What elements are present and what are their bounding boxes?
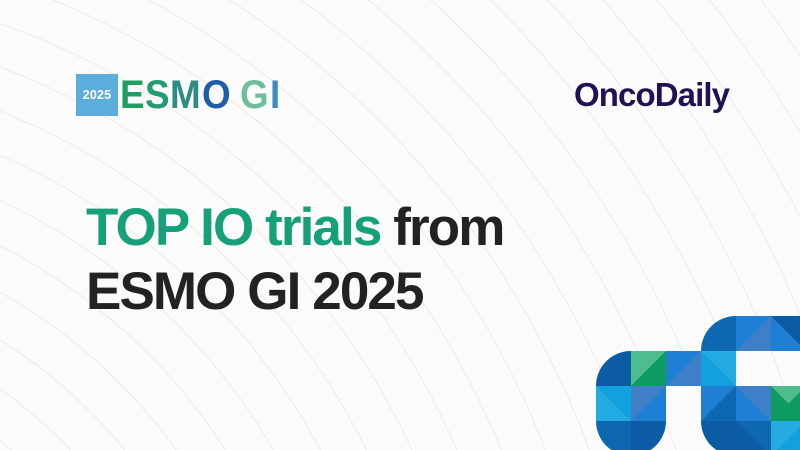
mosaic-tile-triangle — [701, 386, 736, 421]
esmo-letter-g-4: G — [240, 75, 267, 115]
esmo-letter-i-5: I — [270, 75, 279, 115]
mosaic-tile — [736, 421, 771, 450]
mosaic-tile — [771, 421, 800, 450]
mosaic-tile-quarter — [701, 316, 736, 351]
mosaic-tile — [701, 386, 736, 421]
mosaic-tile — [631, 386, 666, 421]
mosaic-tile-quarter — [596, 351, 631, 386]
headline-line-2: ESMO GI 2025 — [86, 260, 646, 324]
mosaic-tile-triangle — [771, 316, 800, 351]
esmo-letter-e-0: E — [120, 75, 143, 115]
mosaic-tile-triangle — [736, 421, 771, 450]
mosaic-tile-triangle — [701, 351, 736, 386]
mosaic-tile-triangle — [666, 351, 701, 386]
esmo-year-label: 2025 — [83, 88, 112, 102]
mosaic-tile — [631, 351, 666, 386]
esmo-letter-s-1: S — [145, 75, 168, 115]
esmo-letter-o-3: O — [202, 75, 229, 115]
mosaic-tile — [771, 386, 800, 421]
mosaic-tile-triangle — [771, 421, 800, 450]
mosaic-tile — [701, 351, 736, 386]
mosaic-tile-wedge — [771, 386, 800, 404]
mosaic-tile-quarter — [701, 421, 736, 450]
esmo-year-badge: 2025 — [76, 74, 118, 116]
mosaic-tile-triangle — [736, 386, 771, 421]
mosaic-tile — [736, 386, 771, 421]
mosaic-tile-triangle — [631, 351, 666, 386]
mosaic-tile — [666, 351, 701, 386]
mosaic-tile-quarter — [596, 421, 631, 450]
esmo-gi-logo: 2025 ESMOGI — [76, 74, 279, 116]
mosaic-tile-triangle — [631, 386, 666, 421]
headline-block: TOP IO trials from ESMO GI 2025 — [86, 196, 646, 324]
mosaic-tile-triangle — [736, 316, 771, 351]
headline-line-1: TOP IO trials from — [86, 196, 646, 260]
mosaic-tile — [771, 316, 800, 351]
esmo-wordmark: ESMOGI — [120, 74, 279, 116]
esmo-letter-m-2: M — [170, 75, 199, 115]
mosaic-tile — [736, 316, 771, 351]
mosaic-tile-quarter — [631, 421, 666, 450]
mosaic-tile-triangle — [596, 386, 631, 421]
promo-graphic-canvas: 2025 ESMOGI OncoDaily TOP IO trials from… — [0, 0, 800, 450]
gi-mosaic-decoration — [596, 316, 800, 450]
oncodaily-logo: OncoDaily — [574, 76, 729, 114]
mosaic-tile — [596, 386, 631, 421]
headline-line-1-rest: from — [380, 198, 503, 257]
headline-accent-text: TOP IO trials — [86, 198, 380, 257]
